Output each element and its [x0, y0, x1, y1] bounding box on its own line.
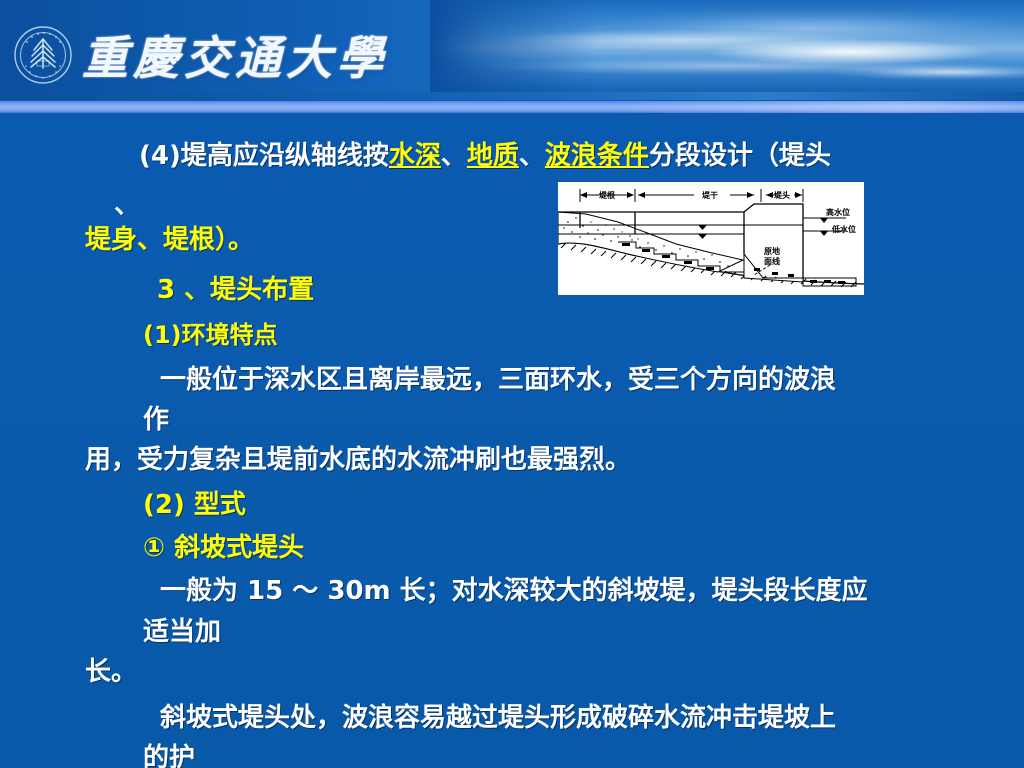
- body-line-11: 一般为 15 ～ 30m 长；对水深较大的斜坡堤，堤头段长度应: [160, 576, 868, 606]
- line1-run-dizhi: 地质: [467, 141, 519, 171]
- body-line-9-heading: (2) 型式: [143, 490, 246, 520]
- line1-run-sep1: 、: [441, 141, 467, 171]
- figure-label-trunk: 堤干: [702, 190, 718, 200]
- body-line-1: (4)堤高应沿纵轴线按水深、地质、波浪条件分段设计（堤头: [139, 141, 831, 171]
- line1-run-tail: 分段设计（堤头: [649, 141, 831, 171]
- body-line-14: 斜坡式堤头处，波浪容易越过堤头形成破碎水流冲击堤坡上: [160, 703, 836, 733]
- slide-body: (4)堤高应沿纵轴线按水深、地质、波浪条件分段设计（堤头 、 堤身、堤根）。 3…: [0, 120, 1024, 768]
- line1-run-bolangtiaojian: 波浪条件: [545, 141, 649, 171]
- header-bottom-line: [0, 92, 1024, 100]
- line1-run-sep2: 、: [519, 141, 545, 171]
- university-name-text: 重慶交通大學: [82, 22, 388, 88]
- body-line-8: 用，受力复杂且堤前水底的水流冲刷也最强烈。: [85, 445, 631, 475]
- body-line-15: 的护: [143, 743, 195, 768]
- university-seal-icon: [14, 26, 74, 86]
- university-logo: [14, 26, 74, 86]
- figure-label-high-water: 高水位: [826, 207, 850, 217]
- body-line-4-heading: 3 、堤头布置: [157, 275, 314, 305]
- body-line-13: 长。: [85, 657, 137, 687]
- breakwater-section-drawing: 堤根 堤干 堤头: [558, 182, 864, 295]
- body-line-2: 、: [114, 190, 140, 220]
- figure-label-root: 堤根: [599, 190, 615, 200]
- body-line-5-heading: (1)环境特点: [143, 320, 278, 350]
- figure-label-ground-line-1: 原地: [764, 246, 780, 256]
- header-separator-band: [0, 101, 1024, 113]
- header-sky-photo: [430, 0, 1024, 100]
- body-line-7: 作: [143, 405, 169, 435]
- figure-label-head: 堤头: [774, 190, 790, 200]
- figure-label-low-water: 低水位: [831, 224, 856, 234]
- body-line-3: 堤身、堤根）。: [85, 225, 254, 255]
- line1-run-shuishen: 水深: [389, 141, 441, 171]
- body-line-10-heading: ① 斜坡式堤头: [143, 533, 304, 563]
- line1-run-a: (4)堤高应沿纵轴线按: [139, 141, 389, 171]
- slide-canvas: 重慶交通大學 (4)堤高应沿纵轴线按水深、地质、波浪条件分段设计（堤头 、 堤身…: [0, 0, 1024, 768]
- figure-label-ground-line-2: 面线: [764, 256, 780, 266]
- body-line-6: 一般位于深水区且离岸最远，三面环水，受三个方向的波浪: [160, 365, 836, 395]
- slide-header-banner: 重慶交通大學: [0, 0, 1024, 100]
- body-line-12: 适当加: [143, 617, 221, 647]
- breakwater-section-figure: 堤根 堤干 堤头: [558, 182, 864, 295]
